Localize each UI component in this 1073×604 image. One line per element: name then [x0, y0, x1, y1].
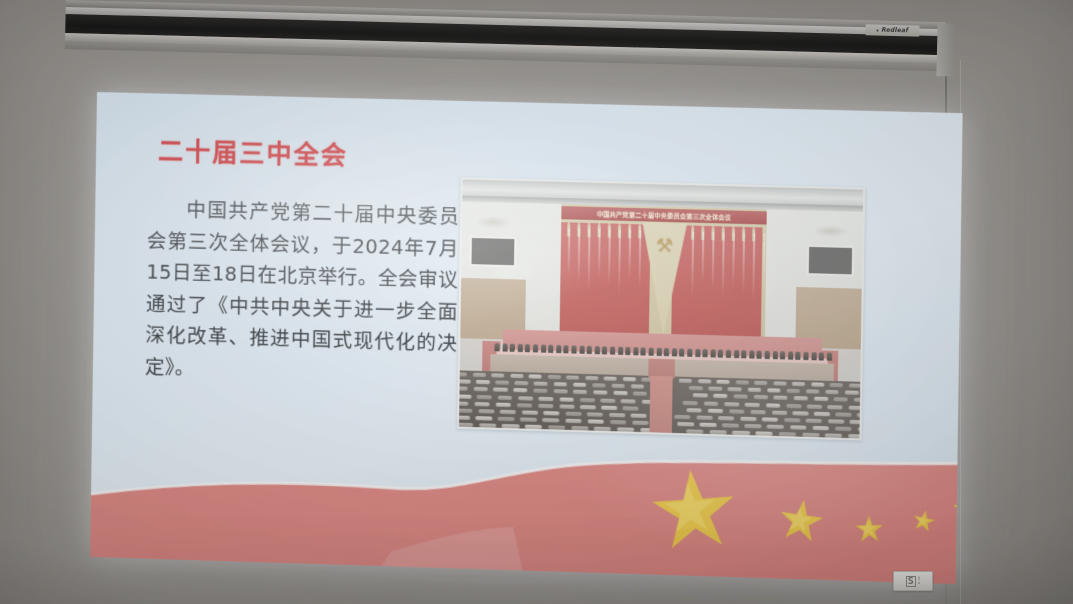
audience-seat [623, 406, 639, 410]
audience-seat [849, 420, 860, 425]
front-row-fixture [633, 347, 638, 355]
audience-seat [459, 409, 472, 413]
audience-seat [630, 414, 646, 419]
audience-seat [686, 430, 704, 435]
front-row-fixture [548, 345, 553, 353]
audience-seat [601, 405, 617, 409]
audience-seat [814, 412, 830, 416]
front-row-fixture [741, 350, 746, 358]
wall-ornament-right [813, 225, 848, 238]
audience-seat [533, 389, 547, 393]
slide-title: 二十届三中全会 [158, 132, 348, 173]
audience-seat [792, 382, 805, 386]
front-row-fixture [749, 350, 754, 358]
wall-panel-right [807, 245, 854, 277]
front-row-fixture [533, 344, 538, 352]
audience-seat [784, 418, 800, 423]
audience-seat [767, 388, 781, 392]
front-row-fixture [710, 349, 715, 357]
audience-seat [479, 424, 496, 429]
plate-sub-line-2: u [918, 581, 921, 585]
audience-seat [553, 382, 567, 386]
front-row-fixture [796, 352, 801, 360]
audience-seat [827, 419, 843, 424]
audience-seat [793, 411, 809, 415]
audience-seat [580, 405, 596, 409]
audience-seat [513, 388, 527, 392]
front-row-fixture [518, 344, 523, 352]
front-row-fixture [641, 347, 646, 355]
audience-seat [762, 417, 778, 422]
audience-seat [609, 413, 625, 418]
audience-seat [604, 376, 617, 380]
audience-seat [713, 394, 728, 398]
audience-seat [790, 425, 807, 430]
front-row-fixture [541, 345, 546, 353]
audience-seat [811, 382, 824, 386]
front-row-fixture [757, 351, 762, 359]
audience-seat [495, 381, 509, 385]
audience-seat [497, 395, 512, 399]
classroom-scene: Redleaf 二十届三中全会 中国共产党第二十届中央委员会第三次全体会议，于2… [0, 0, 1073, 604]
projected-slide-area: 二十届三中全会 中国共产党第二十届中央委员会第三次全体会议，于2024年7月15… [90, 92, 963, 584]
audience-seat [459, 423, 473, 428]
audience-seat [857, 427, 860, 432]
audience-seat [848, 434, 860, 438]
audience-seat [474, 402, 490, 406]
audience-seat [592, 383, 606, 387]
audience-seat [476, 380, 490, 384]
projection-screen-housing[interactable]: Redleaf [65, 0, 946, 74]
flag-motif-decoration [90, 422, 958, 584]
audience-seat [525, 425, 542, 430]
audience-seat [610, 420, 627, 425]
audience-seat [565, 419, 582, 424]
audience-seat [547, 375, 560, 379]
audience-seat [459, 380, 470, 384]
audience-seat [495, 402, 511, 406]
audience-seat [580, 398, 595, 402]
front-row-fixture [679, 348, 684, 356]
audience-seat [696, 415, 712, 420]
front-row-fixture [734, 350, 739, 358]
audience-seat [708, 409, 724, 413]
audience-seat [621, 399, 636, 403]
audience-seat [573, 390, 587, 394]
front-row-fixture [772, 351, 777, 359]
audience-seat [475, 416, 492, 421]
front-row-fixture [695, 349, 700, 357]
audience-seat [478, 409, 494, 413]
audience-seat [765, 403, 780, 407]
plate-subtext: 0 u [918, 577, 921, 585]
front-row-fixture [502, 343, 507, 351]
front-row-fixture [510, 344, 515, 352]
audience-seat [747, 388, 761, 392]
front-row-fixture [649, 348, 654, 356]
audience-seat [835, 427, 852, 432]
slide-body-paragraph: 中国共产党第二十届中央委员会第三次全体会议，于2024年7月15日至18日在北京… [145, 193, 460, 392]
audience-seat [472, 373, 485, 377]
front-row-fixture [602, 346, 607, 354]
audience-seat [500, 410, 516, 414]
audience-seat [754, 381, 767, 385]
front-row-fixture [803, 352, 808, 360]
audience-seat [683, 401, 698, 405]
audience-seat [767, 425, 784, 430]
audience-seat [698, 379, 711, 383]
audience-seat [740, 417, 756, 422]
red-flag-left [560, 222, 651, 333]
audience-seat [518, 396, 533, 400]
audience-seat [773, 396, 788, 400]
brand-label: Redleaf [881, 27, 908, 35]
front-row-fixture [664, 348, 669, 356]
audience-seat [538, 404, 554, 408]
front-row-fixture [672, 348, 677, 356]
audience-seat [459, 401, 469, 405]
front-row-fixture [610, 346, 615, 354]
audience-seat [699, 423, 716, 428]
front-row-fixture [819, 352, 824, 360]
front-row-fixture [579, 346, 584, 354]
front-row-fixture [788, 351, 793, 359]
center-aisle-carpet [649, 376, 672, 437]
audience-seat [587, 412, 603, 417]
audience-seat [745, 402, 760, 406]
hammer-sickle-emblem-icon: ⚒ [652, 233, 677, 260]
audience-seat [510, 374, 523, 378]
audience-seat [633, 392, 647, 396]
audience-seat [515, 381, 529, 385]
audience-seat [703, 401, 718, 405]
audience-seat [848, 405, 860, 409]
brand-dot-icon [877, 29, 879, 31]
audience-seat [677, 422, 694, 427]
audience-seat [548, 426, 565, 431]
front-row-fixture [587, 346, 592, 354]
audience-seat [718, 416, 734, 421]
audience-seat [716, 380, 729, 384]
hall-banner-text: 中国共产党第二十届中央委员会第三次全体会议 [597, 209, 731, 222]
audience-seat [632, 421, 649, 426]
conference-hall-photo: ⚒ 中国共产党第二十届中央委员会第三次全体会议 [459, 179, 863, 438]
front-row-fixture [703, 349, 708, 357]
audience-seat [857, 413, 860, 418]
audience-seat [729, 409, 745, 413]
audience-seat [565, 412, 581, 416]
audience-seat [728, 387, 742, 391]
front-row-fixture [827, 353, 832, 361]
audience-seat [689, 386, 703, 390]
audience-seat [587, 420, 604, 425]
audience-seat [559, 404, 575, 408]
front-row-fixture [625, 347, 630, 355]
audience-seat [693, 394, 707, 398]
audience-seat [585, 376, 598, 380]
audience-seat [845, 391, 859, 395]
audience-seat [708, 387, 722, 391]
audience-seat [543, 411, 559, 415]
audience-seat [477, 395, 492, 399]
audience-seat [459, 387, 468, 391]
audience-seat [835, 412, 851, 416]
audience-seat [679, 379, 692, 383]
photo-frame: ⚒ 中国共产党第二十届中央委员会第三次全体会议 [457, 177, 865, 440]
audience-seat [534, 382, 548, 386]
audience-seat [709, 430, 727, 435]
front-row-fixture [618, 347, 623, 355]
audience-seat [779, 432, 797, 437]
audience-seat [825, 390, 839, 394]
front-row-fixture [718, 349, 723, 357]
audience-seat [502, 424, 519, 429]
front-row-fixture [687, 349, 692, 357]
audience-seat [631, 385, 645, 389]
front-row-fixture [525, 344, 530, 352]
audience-seat [733, 395, 748, 399]
audience-seat [520, 418, 537, 423]
audience-seat [491, 373, 504, 377]
front-row-fixture [780, 351, 785, 359]
audience-seat [834, 398, 849, 402]
audience-seat [814, 397, 829, 401]
front-row-fixture [571, 345, 576, 353]
audience-seat [753, 395, 768, 399]
front-row-fixture [494, 343, 499, 351]
audience-seat [745, 424, 762, 429]
audience-seat [600, 398, 615, 402]
audience-seat [622, 377, 635, 381]
audience-seat [755, 432, 773, 437]
powerpoint-slide: 二十届三中全会 中国共产党第二十届中央委员会第三次全体会议，于2024年7月15… [90, 92, 963, 584]
front-row-fixture [656, 348, 661, 356]
audience-seat [806, 419, 822, 424]
audience-seat [674, 415, 690, 420]
audience-seat [750, 410, 766, 414]
audience-seat [566, 375, 579, 379]
audience-seat [528, 374, 541, 378]
front-row-fixture [811, 352, 816, 360]
front-row-fixture [564, 345, 569, 353]
audience-seat [542, 418, 559, 423]
audience-seat [559, 397, 574, 401]
red-flag-right [671, 225, 762, 336]
housing-end-cap [936, 24, 955, 76]
audience-seat [593, 391, 607, 395]
audience-seat [571, 426, 588, 431]
audience-seat [517, 403, 533, 407]
front-row-fixture [556, 345, 561, 353]
audience-seat [854, 398, 860, 402]
audience-seat [611, 384, 625, 388]
audience-seat [493, 388, 507, 392]
audience-seat [825, 434, 843, 439]
audience-seat [812, 426, 829, 431]
plate-glyph: S [906, 576, 916, 587]
audience-seat [786, 389, 800, 393]
audience-seat [735, 380, 748, 384]
front-row-fixture [595, 346, 600, 354]
audience-seat [773, 381, 786, 385]
audience-seat [594, 427, 612, 432]
audience-seat [617, 428, 635, 433]
audience-seat [828, 405, 843, 409]
audience-seat [613, 391, 627, 395]
audience-seat [459, 372, 467, 376]
audience-seat [724, 402, 739, 406]
screen-brand-plate: Redleaf [865, 24, 919, 36]
wall-ornament-left [476, 216, 511, 229]
audience-seat [573, 383, 587, 387]
front-row-fixture [765, 351, 770, 359]
audience-seat [807, 404, 822, 408]
audience-seat [686, 408, 702, 412]
audience-seat [538, 396, 553, 400]
audience-seat [802, 433, 820, 438]
wall-panel-left [469, 236, 516, 267]
audience-seat [459, 416, 470, 421]
audience-seat [848, 383, 860, 387]
audience-seat [786, 404, 801, 408]
front-row-fixture [726, 350, 731, 358]
audience-seat [722, 423, 739, 428]
audience-seat [806, 390, 820, 394]
audience-seat [771, 410, 787, 414]
audience-seat [459, 394, 471, 398]
audience-seat [793, 396, 808, 400]
audience-seat [830, 383, 843, 387]
wall-label-plate: S 0 u [893, 571, 933, 591]
audience-seat [473, 387, 487, 391]
audience-seat [521, 410, 537, 414]
audience-seat [732, 431, 750, 436]
audience-seat [498, 417, 515, 422]
audience-seat [553, 390, 567, 394]
